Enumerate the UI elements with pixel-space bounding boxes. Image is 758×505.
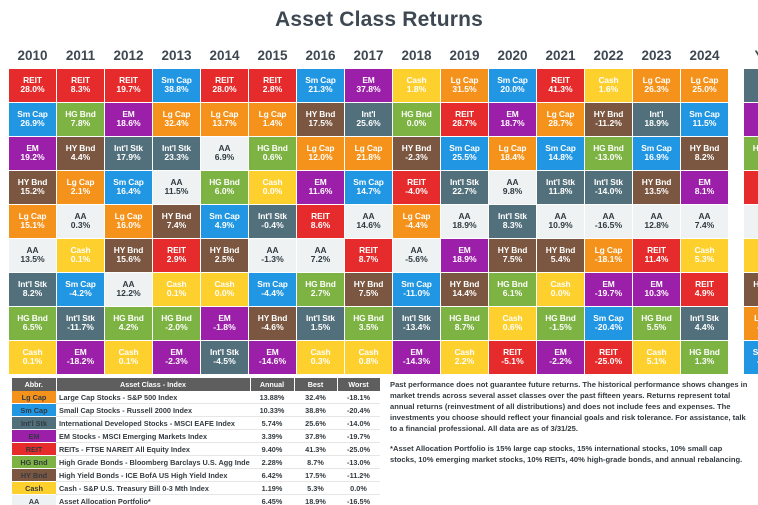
legend-abbr-swatch: HG Bnd — [12, 456, 56, 469]
legend-annual-value: 2.28% — [250, 456, 294, 469]
legend-row: Int'l StkInternational Developed Stocks … — [12, 417, 380, 430]
legend-header-1: Asset Class - Index — [56, 378, 250, 391]
return-cell-2020-rank1[interactable]: Sm Cap20.0% — [489, 69, 536, 102]
return-cell-2020-rank2[interactable]: EM18.7% — [489, 103, 536, 136]
asset-return-value: -4.4% — [250, 289, 295, 299]
return-cell-2014-rank1[interactable]: REIT28.0% — [201, 69, 248, 102]
return-cell-2023-rank1[interactable]: Lg Cap26.3% — [633, 69, 680, 102]
return-cell-2024-rank6[interactable]: Cash5.3% — [681, 239, 728, 272]
return-cell-2011-rank6[interactable]: Cash0.1% — [57, 239, 104, 272]
return-cell-2021-rank6[interactable]: HY Bnd5.4% — [537, 239, 584, 272]
return-cell-2018-rank2[interactable]: HG Bnd0.0% — [393, 103, 440, 136]
asset-return-value: -16.5% — [586, 221, 631, 231]
asset-return-value: 0.1% — [10, 357, 55, 367]
asset-return-value: 8.6% — [298, 221, 343, 231]
return-cell-2016-rank1[interactable]: Sm Cap21.3% — [297, 69, 344, 102]
legend-worst-value: 0.0% — [337, 482, 380, 495]
return-cell-2010-rank3[interactable]: EM19.2% — [9, 137, 56, 170]
column-spacer — [729, 205, 743, 238]
return-cell-2011-rank9[interactable]: EM-18.2% — [57, 341, 104, 374]
year-header-2017: 2017 — [345, 46, 392, 68]
return-cell-2017-rank6[interactable]: REIT8.7% — [345, 239, 392, 272]
return-cell-2015-rank6[interactable]: AA-1.3% — [249, 239, 296, 272]
return-cell-2021-rank2[interactable]: Lg Cap28.7% — [537, 103, 584, 136]
header-spacer — [729, 46, 743, 68]
return-cell-2019-rank5[interactable]: AA18.9% — [441, 205, 488, 238]
return-cell-2018-rank9[interactable]: EM-14.3% — [393, 341, 440, 374]
return-cell-YTD-rank9[interactable]: Sm Cap-9.5% — [744, 341, 758, 374]
asset-return-value: 11.8% — [538, 187, 583, 197]
asset-return-value: 1.2% — [745, 221, 758, 231]
return-cell-2024-rank9[interactable]: HG Bnd1.3% — [681, 341, 728, 374]
return-cell-2010-rank1[interactable]: REIT28.0% — [9, 69, 56, 102]
legend-best-value: 32.4% — [294, 391, 337, 404]
return-cell-2022-rank7[interactable]: EM-19.7% — [585, 273, 632, 306]
legend-annual-value: 6.45% — [250, 495, 294, 505]
ytd-header: YTD — [744, 46, 758, 68]
return-cell-2014-rank2[interactable]: Lg Cap13.7% — [201, 103, 248, 136]
asset-return-value: -4.0% — [394, 187, 439, 197]
return-cell-2024-rank4[interactable]: EM8.1% — [681, 171, 728, 204]
return-cell-2022-rank6[interactable]: Lg Cap-18.1% — [585, 239, 632, 272]
legend-best-value: 38.8% — [294, 404, 337, 417]
return-cell-2022-rank4[interactable]: Int'l Stk-14.0% — [585, 171, 632, 204]
return-cell-2015-rank1[interactable]: REIT2.8% — [249, 69, 296, 102]
asset-return-value: -4.2% — [58, 289, 103, 299]
asset-return-value: -25.0% — [586, 357, 631, 367]
return-cell-2024-rank3[interactable]: HY Bnd8.2% — [681, 137, 728, 170]
return-cell-2020-rank7[interactable]: HG Bnd6.1% — [489, 273, 536, 306]
legend-row: CashCash - S&P U.S. Treasury Bill 0-3 Mt… — [12, 482, 380, 495]
return-cell-2020-rank8[interactable]: Cash0.6% — [489, 307, 536, 340]
return-cell-2012-rank2[interactable]: EM18.6% — [105, 103, 152, 136]
return-cell-2016-rank9[interactable]: Cash0.3% — [297, 341, 344, 374]
legend-row: REITREITs - FTSE NAREIT All Equity Index… — [12, 443, 380, 456]
asset-return-value: -4.6% — [250, 323, 295, 333]
legend-row: AAAsset Allocation Portfolio*6.45%18.9%-… — [12, 495, 380, 505]
asset-return-value: 0.0% — [250, 187, 295, 197]
return-cell-2021-rank7[interactable]: Cash0.0% — [537, 273, 584, 306]
asset-return-value: 14.4% — [442, 289, 487, 299]
asset-abbr: Int'l — [745, 76, 758, 85]
return-cell-2014-rank4[interactable]: HG Bnd6.0% — [201, 171, 248, 204]
return-cell-2022-rank9[interactable]: REIT-25.0% — [585, 341, 632, 374]
return-cell-2022-rank5[interactable]: AA-16.5% — [585, 205, 632, 238]
asset-return-value: 32.4% — [154, 119, 199, 129]
asset-return-value: 0.0% — [538, 289, 583, 299]
return-cell-2013-rank8[interactable]: HG Bnd-2.0% — [153, 307, 200, 340]
return-cell-2013-rank5[interactable]: HY Bnd7.4% — [153, 205, 200, 238]
asset-return-value: 0.6% — [250, 153, 295, 163]
legend-asset-class-name: Cash - S&P U.S. Treasury Bill 0-3 Mth In… — [56, 482, 250, 495]
asset-abbr: HY Bnd — [745, 280, 758, 289]
asset-return-value: -14.3% — [394, 357, 439, 367]
return-cell-2021-rank9[interactable]: EM-2.2% — [537, 341, 584, 374]
return-cell-2019-rank7[interactable]: HY Bnd14.4% — [441, 273, 488, 306]
year-header-2023: 2023 — [633, 46, 680, 68]
legend-abbr-swatch: Int'l Stk — [12, 417, 56, 430]
legend-abbr-swatch: Lg Cap — [12, 391, 56, 404]
year-header-2011: 2011 — [57, 46, 104, 68]
return-cell-2016-rank4[interactable]: EM11.6% — [297, 171, 344, 204]
asset-return-value: -4.3% — [745, 323, 758, 333]
asset-return-value: 14.6% — [346, 221, 391, 231]
return-cell-2023-rank7[interactable]: EM10.3% — [633, 273, 680, 306]
asset-return-value: 1.1% — [745, 255, 758, 265]
legend-worst-value: -13.0% — [337, 456, 380, 469]
return-cell-2016-rank7[interactable]: HG Bnd2.7% — [297, 273, 344, 306]
asset-return-value: -9.5% — [745, 357, 758, 367]
asset-return-value: 2.5% — [202, 255, 247, 265]
asset-return-value: 1.6% — [586, 85, 631, 95]
return-cell-2015-rank7[interactable]: Sm Cap-4.4% — [249, 273, 296, 306]
return-cell-YTD-rank1[interactable]: Int'l7.0% — [744, 69, 758, 102]
return-cell-2018-rank1[interactable]: Cash1.8% — [393, 69, 440, 102]
asset-return-value: 31.5% — [442, 85, 487, 95]
return-cell-2010-rank2[interactable]: Sm Cap26.9% — [9, 103, 56, 136]
return-cell-2015-rank8[interactable]: HY Bnd-4.6% — [249, 307, 296, 340]
legend-header-4: Worst — [337, 378, 380, 391]
return-cell-2020-rank5[interactable]: Int'l Stk8.3% — [489, 205, 536, 238]
asset-return-value: -11.2% — [586, 119, 631, 129]
return-cell-YTD-rank4[interactable]: REIT2.8% — [744, 171, 758, 204]
return-cell-2013-rank1[interactable]: Sm Cap38.8% — [153, 69, 200, 102]
return-cell-2023-rank8[interactable]: HG Bnd5.5% — [633, 307, 680, 340]
asset-return-value: -5.1% — [490, 357, 535, 367]
return-cell-2022-rank2[interactable]: HY Bnd-11.2% — [585, 103, 632, 136]
legend-asset-class-name: EM Stocks - MSCI Emerging Markets Index — [56, 430, 250, 443]
return-cell-2017-rank7[interactable]: HY Bnd7.5% — [345, 273, 392, 306]
return-cell-2011-rank5[interactable]: AA0.3% — [57, 205, 104, 238]
return-cell-2011-rank7[interactable]: Sm Cap-4.2% — [57, 273, 104, 306]
legend-row: Lg CapLarge Cap Stocks - S&P 500 Index13… — [12, 391, 380, 404]
asset-return-value: 12.0% — [298, 153, 343, 163]
asset-return-value: 3.0% — [745, 119, 758, 129]
return-cell-2014-rank8[interactable]: EM-1.8% — [201, 307, 248, 340]
return-cell-2017-rank3[interactable]: Lg Cap21.8% — [345, 137, 392, 170]
page-title: Asset Class Returns — [0, 0, 758, 30]
asset-return-value: 17.5% — [298, 119, 343, 129]
return-cell-YTD-rank6[interactable]: Cash1.1% — [744, 239, 758, 272]
legend-abbr-swatch: AA — [12, 495, 56, 505]
asset-return-value: 25.5% — [442, 153, 487, 163]
matrix-row: EM19.2%HY Bnd4.4%Int'l Stk17.9%Int'l Stk… — [9, 137, 758, 170]
asset-return-value: 18.7% — [490, 119, 535, 129]
legend-table: Abbr.Asset Class - IndexAnnualBestWorst … — [12, 378, 381, 505]
return-cell-2020-rank3[interactable]: Lg Cap18.4% — [489, 137, 536, 170]
return-cell-2016-rank8[interactable]: Int'l Stk1.5% — [297, 307, 344, 340]
return-cell-2016-rank3[interactable]: Lg Cap12.0% — [297, 137, 344, 170]
return-cell-2012-rank4[interactable]: Sm Cap16.4% — [105, 171, 152, 204]
return-cell-2021-rank8[interactable]: HG Bnd-1.5% — [537, 307, 584, 340]
asset-return-value: 1.5% — [298, 323, 343, 333]
return-cell-2016-rank2[interactable]: HY Bnd17.5% — [297, 103, 344, 136]
return-cell-2014-rank3[interactable]: AA6.9% — [201, 137, 248, 170]
return-cell-2021-rank3[interactable]: Sm Cap14.8% — [537, 137, 584, 170]
asset-return-value: 15.2% — [10, 187, 55, 197]
legend-best-value: 37.8% — [294, 430, 337, 443]
year-header-2019: 2019 — [441, 46, 488, 68]
return-cell-2013-rank7[interactable]: Cash0.1% — [153, 273, 200, 306]
return-cell-2016-rank5[interactable]: REIT8.6% — [297, 205, 344, 238]
return-cell-2018-rank3[interactable]: HY Bnd-2.3% — [393, 137, 440, 170]
return-cell-2023-rank3[interactable]: Sm Cap16.9% — [633, 137, 680, 170]
year-header-2020: 2020 — [489, 46, 536, 68]
asset-return-value: 18.6% — [106, 119, 151, 129]
asset-return-value: 18.9% — [442, 255, 487, 265]
return-cell-2018-rank5[interactable]: Lg Cap-4.4% — [393, 205, 440, 238]
legend-container: Abbr.Asset Class - IndexAnnualBestWorst … — [12, 378, 380, 505]
return-cell-YTD-rank3[interactable]: HG Bnd2.8% — [744, 137, 758, 170]
legend-asset-class-name: Small Cap Stocks - Russell 2000 Index — [56, 404, 250, 417]
year-header-2022: 2022 — [585, 46, 632, 68]
return-cell-2013-rank4[interactable]: AA11.5% — [153, 171, 200, 204]
legend-best-value: 41.3% — [294, 443, 337, 456]
year-header-2021: 2021 — [537, 46, 584, 68]
asset-return-value: 5.5% — [634, 323, 679, 333]
asset-return-value: 11.6% — [298, 187, 343, 197]
return-cell-2019-rank2[interactable]: REIT28.7% — [441, 103, 488, 136]
matrix-row: HG Bnd6.5%Int'l Stk-11.7%HG Bnd4.2%HG Bn… — [9, 307, 758, 340]
asset-return-value: 4.9% — [202, 221, 247, 231]
asset-return-value: 1.4% — [250, 119, 295, 129]
legend-annual-value: 3.39% — [250, 430, 294, 443]
year-header-2013: 2013 — [153, 46, 200, 68]
return-cell-2023-rank2[interactable]: Int'l18.9% — [633, 103, 680, 136]
asset-return-value: 3.5% — [346, 323, 391, 333]
asset-return-value: 7.5% — [490, 255, 535, 265]
legend-header-3: Best — [294, 378, 337, 391]
asset-return-value: 21.8% — [346, 153, 391, 163]
return-cell-2010-rank4[interactable]: HY Bnd15.2% — [9, 171, 56, 204]
asset-return-value: 21.3% — [298, 85, 343, 95]
return-cell-2021-rank5[interactable]: AA10.9% — [537, 205, 584, 238]
return-cell-2011-rank2[interactable]: HG Bnd7.8% — [57, 103, 104, 136]
return-cell-2014-rank6[interactable]: HY Bnd2.5% — [201, 239, 248, 272]
return-cell-2021-rank4[interactable]: Int'l Stk11.8% — [537, 171, 584, 204]
return-cell-2019-rank9[interactable]: Cash2.2% — [441, 341, 488, 374]
return-cell-YTD-rank2[interactable]: EM3.0% — [744, 103, 758, 136]
legend-abbr-swatch: EM — [12, 430, 56, 443]
return-cell-2018-rank7[interactable]: Sm Cap-11.0% — [393, 273, 440, 306]
return-cell-2014-rank9[interactable]: Int'l Stk-4.5% — [201, 341, 248, 374]
asset-return-value: 14.7% — [346, 187, 391, 197]
return-cell-2021-rank1[interactable]: REIT41.3% — [537, 69, 584, 102]
return-cell-2019-rank1[interactable]: Lg Cap31.5% — [441, 69, 488, 102]
asset-return-value: 8.7% — [346, 255, 391, 265]
legend-asset-class-name: High Grade Bonds - Bloomberg Barclays U.… — [56, 456, 250, 469]
asset-return-value: -20.4% — [586, 323, 631, 333]
return-cell-2017-rank8[interactable]: HG Bnd3.5% — [345, 307, 392, 340]
asset-return-value: 19.7% — [106, 85, 151, 95]
return-cell-2024-rank5[interactable]: AA7.4% — [681, 205, 728, 238]
asset-return-value: -13.4% — [394, 323, 439, 333]
asset-return-value: 0.0% — [394, 119, 439, 129]
asset-return-value: 10.9% — [538, 221, 583, 231]
asset-return-value: 0.0% — [202, 289, 247, 299]
asset-return-value: 9.8% — [490, 187, 535, 197]
return-cell-2022-rank1[interactable]: Cash1.6% — [585, 69, 632, 102]
return-cell-2010-rank7[interactable]: Int'l Stk8.2% — [9, 273, 56, 306]
legend-annual-value: 1.19% — [250, 482, 294, 495]
legend-best-value: 8.7% — [294, 456, 337, 469]
return-cell-2014-rank7[interactable]: Cash0.0% — [201, 273, 248, 306]
return-cell-2015-rank4[interactable]: Cash0.0% — [249, 171, 296, 204]
year-header-2018: 2018 — [393, 46, 440, 68]
return-cell-2015-rank9[interactable]: EM-14.6% — [249, 341, 296, 374]
asset-return-value: 0.3% — [58, 221, 103, 231]
return-cell-2023-rank4[interactable]: HY Bnd13.5% — [633, 171, 680, 204]
legend-best-value: 5.3% — [294, 482, 337, 495]
return-cell-2018-rank4[interactable]: REIT-4.0% — [393, 171, 440, 204]
return-cell-2012-rank9[interactable]: Cash0.1% — [105, 341, 152, 374]
asset-return-value: 13.5% — [634, 187, 679, 197]
asset-return-value: 7.0% — [745, 85, 758, 95]
return-cell-2012-rank5[interactable]: Lg Cap16.0% — [105, 205, 152, 238]
asset-return-value: 1.3% — [682, 357, 727, 367]
return-cell-2015-rank5[interactable]: Int'l Stk-0.4% — [249, 205, 296, 238]
return-cell-2018-rank6[interactable]: AA-5.6% — [393, 239, 440, 272]
asset-return-value: 28.7% — [442, 119, 487, 129]
asset-return-value: 11.4% — [634, 255, 679, 265]
note-paragraph-2: *Asset Allocation Portfolio is 15% large… — [390, 443, 750, 465]
asset-return-value: 16.9% — [634, 153, 679, 163]
return-cell-2020-rank9[interactable]: REIT-5.1% — [489, 341, 536, 374]
asset-return-value: 2.2% — [442, 357, 487, 367]
return-cell-2023-rank9[interactable]: Cash5.1% — [633, 341, 680, 374]
legend-header-row: Abbr.Asset Class - IndexAnnualBestWorst — [12, 378, 380, 391]
return-cell-2010-rank6[interactable]: AA13.5% — [9, 239, 56, 272]
return-cell-2012-rank8[interactable]: HG Bnd4.2% — [105, 307, 152, 340]
return-cell-2017-rank4[interactable]: Sm Cap14.7% — [345, 171, 392, 204]
column-spacer — [729, 239, 743, 272]
asset-return-value: 6.5% — [10, 323, 55, 333]
return-cell-2011-rank1[interactable]: REIT8.3% — [57, 69, 104, 102]
return-cell-2024-rank2[interactable]: Sm Cap11.5% — [681, 103, 728, 136]
return-cell-2013-rank2[interactable]: Lg Cap32.4% — [153, 103, 200, 136]
asset-return-value: 7.8% — [58, 119, 103, 129]
return-cell-2022-rank3[interactable]: HG Bnd-13.0% — [585, 137, 632, 170]
return-cell-2013-rank3[interactable]: Int'l Stk23.3% — [153, 137, 200, 170]
return-cell-2016-rank6[interactable]: AA7.2% — [297, 239, 344, 272]
return-cell-2017-rank2[interactable]: Int'l25.6% — [345, 103, 392, 136]
return-cell-2013-rank9[interactable]: EM-2.3% — [153, 341, 200, 374]
return-cell-2012-rank7[interactable]: AA12.2% — [105, 273, 152, 306]
legend-row: HG BndHigh Grade Bonds - Bloomberg Barcl… — [12, 456, 380, 469]
return-cell-2013-rank6[interactable]: REIT2.9% — [153, 239, 200, 272]
return-cell-2020-rank6[interactable]: HY Bnd7.5% — [489, 239, 536, 272]
asset-return-value: 2.1% — [58, 187, 103, 197]
return-cell-2017-rank9[interactable]: Cash0.8% — [345, 341, 392, 374]
matrix-row: Cash0.1%EM-18.2%Cash0.1%EM-2.3%Int'l Stk… — [9, 341, 758, 374]
return-cell-YTD-rank5[interactable]: AA1.2% — [744, 205, 758, 238]
asset-return-value: 0.9% — [745, 289, 758, 299]
matrix-row: AA13.5%Cash0.1%HY Bnd15.6%REIT2.9%HY Bnd… — [9, 239, 758, 272]
return-cell-2024-rank7[interactable]: REIT4.9% — [681, 273, 728, 306]
asset-return-value: -14.6% — [250, 357, 295, 367]
return-cell-2019-rank3[interactable]: Sm Cap25.5% — [441, 137, 488, 170]
return-cell-2022-rank8[interactable]: Sm Cap-20.4% — [585, 307, 632, 340]
return-cell-2017-rank1[interactable]: EM37.8% — [345, 69, 392, 102]
return-cell-2012-rank1[interactable]: REIT19.7% — [105, 69, 152, 102]
asset-return-value: 2.8% — [250, 85, 295, 95]
legend-asset-class-name: High Yield Bonds - ICE BofA US High Yiel… — [56, 469, 250, 482]
asset-return-value: -18.2% — [58, 357, 103, 367]
legend-body: Lg CapLarge Cap Stocks - S&P 500 Index13… — [12, 391, 380, 505]
asset-return-value: 2.9% — [154, 255, 199, 265]
column-spacer — [729, 137, 743, 170]
asset-return-value: -18.1% — [586, 255, 631, 265]
legend-abbr-swatch: Sm Cap — [12, 404, 56, 417]
legend-abbr-swatch: HY Bnd — [12, 469, 56, 482]
year-header-2010: 2010 — [9, 46, 56, 68]
return-cell-2015-rank2[interactable]: Lg Cap1.4% — [249, 103, 296, 136]
asset-return-value: 28.0% — [202, 85, 247, 95]
asset-return-value: 4.4% — [58, 153, 103, 163]
return-cell-2010-rank5[interactable]: Lg Cap15.1% — [9, 205, 56, 238]
asset-return-value: 0.3% — [298, 357, 343, 367]
return-cell-2017-rank5[interactable]: AA14.6% — [345, 205, 392, 238]
matrix-row: Lg Cap15.1%AA0.3%Lg Cap16.0%HY Bnd7.4%Sm… — [9, 205, 758, 238]
asset-return-value: 8.3% — [58, 85, 103, 95]
asset-return-value: -0.4% — [250, 221, 295, 231]
legend-header-0: Abbr. — [12, 378, 56, 391]
asset-return-value: 13.5% — [10, 255, 55, 265]
return-cell-2015-rank3[interactable]: HG Bnd0.6% — [249, 137, 296, 170]
return-cell-2019-rank6[interactable]: EM18.9% — [441, 239, 488, 272]
legend-annual-value: 5.74% — [250, 417, 294, 430]
return-cell-2018-rank8[interactable]: Int'l Stk-13.4% — [393, 307, 440, 340]
return-cell-2011-rank3[interactable]: HY Bnd4.4% — [57, 137, 104, 170]
return-cell-2020-rank4[interactable]: AA9.8% — [489, 171, 536, 204]
asset-abbr: HG Bnd — [745, 144, 758, 153]
asset-return-value: -14.0% — [586, 187, 631, 197]
asset-class-returns-page: Asset Class Returns 20102011201220132014… — [0, 0, 758, 505]
legend-worst-value: -11.2% — [337, 469, 380, 482]
asset-return-value: 0.1% — [106, 357, 151, 367]
disclosure-notes: Past performance does not guarantee futu… — [390, 379, 750, 475]
return-cell-2014-rank5[interactable]: Sm Cap4.9% — [201, 205, 248, 238]
return-cell-2010-rank9[interactable]: Cash0.1% — [9, 341, 56, 374]
return-cell-2019-rank8[interactable]: HG Bnd8.7% — [441, 307, 488, 340]
column-spacer — [729, 341, 743, 374]
footer-section: Abbr.Asset Class - IndexAnnualBestWorst … — [0, 376, 758, 505]
legend-best-value: 18.9% — [294, 495, 337, 505]
legend-best-value: 25.6% — [294, 417, 337, 430]
return-cell-2011-rank4[interactable]: Lg Cap2.1% — [57, 171, 104, 204]
return-cell-YTD-rank8[interactable]: Lg Cap-4.3% — [744, 307, 758, 340]
return-cell-2024-rank1[interactable]: Lg Cap25.0% — [681, 69, 728, 102]
asset-return-value: 16.0% — [106, 221, 151, 231]
asset-return-value: 7.5% — [346, 289, 391, 299]
legend-worst-value: -25.0% — [337, 443, 380, 456]
return-cell-2024-rank8[interactable]: Int'l Stk4.4% — [681, 307, 728, 340]
asset-return-value: -2.2% — [538, 357, 583, 367]
asset-abbr: EM — [745, 110, 758, 119]
return-cell-2023-rank6[interactable]: REIT11.4% — [633, 239, 680, 272]
legend-worst-value: -16.5% — [337, 495, 380, 505]
return-cell-2010-rank8[interactable]: HG Bnd6.5% — [9, 307, 56, 340]
return-cell-2011-rank8[interactable]: Int'l Stk-11.7% — [57, 307, 104, 340]
return-cell-2012-rank6[interactable]: HY Bnd15.6% — [105, 239, 152, 272]
return-cell-YTD-rank7[interactable]: HY Bnd0.9% — [744, 273, 758, 306]
return-cell-2023-rank5[interactable]: AA12.8% — [633, 205, 680, 238]
asset-return-value: 5.3% — [682, 255, 727, 265]
return-cell-2019-rank4[interactable]: Int'l Stk22.7% — [441, 171, 488, 204]
asset-return-value: 28.7% — [538, 119, 583, 129]
return-cell-2012-rank3[interactable]: Int'l Stk17.9% — [105, 137, 152, 170]
asset-return-value: 18.9% — [634, 119, 679, 129]
